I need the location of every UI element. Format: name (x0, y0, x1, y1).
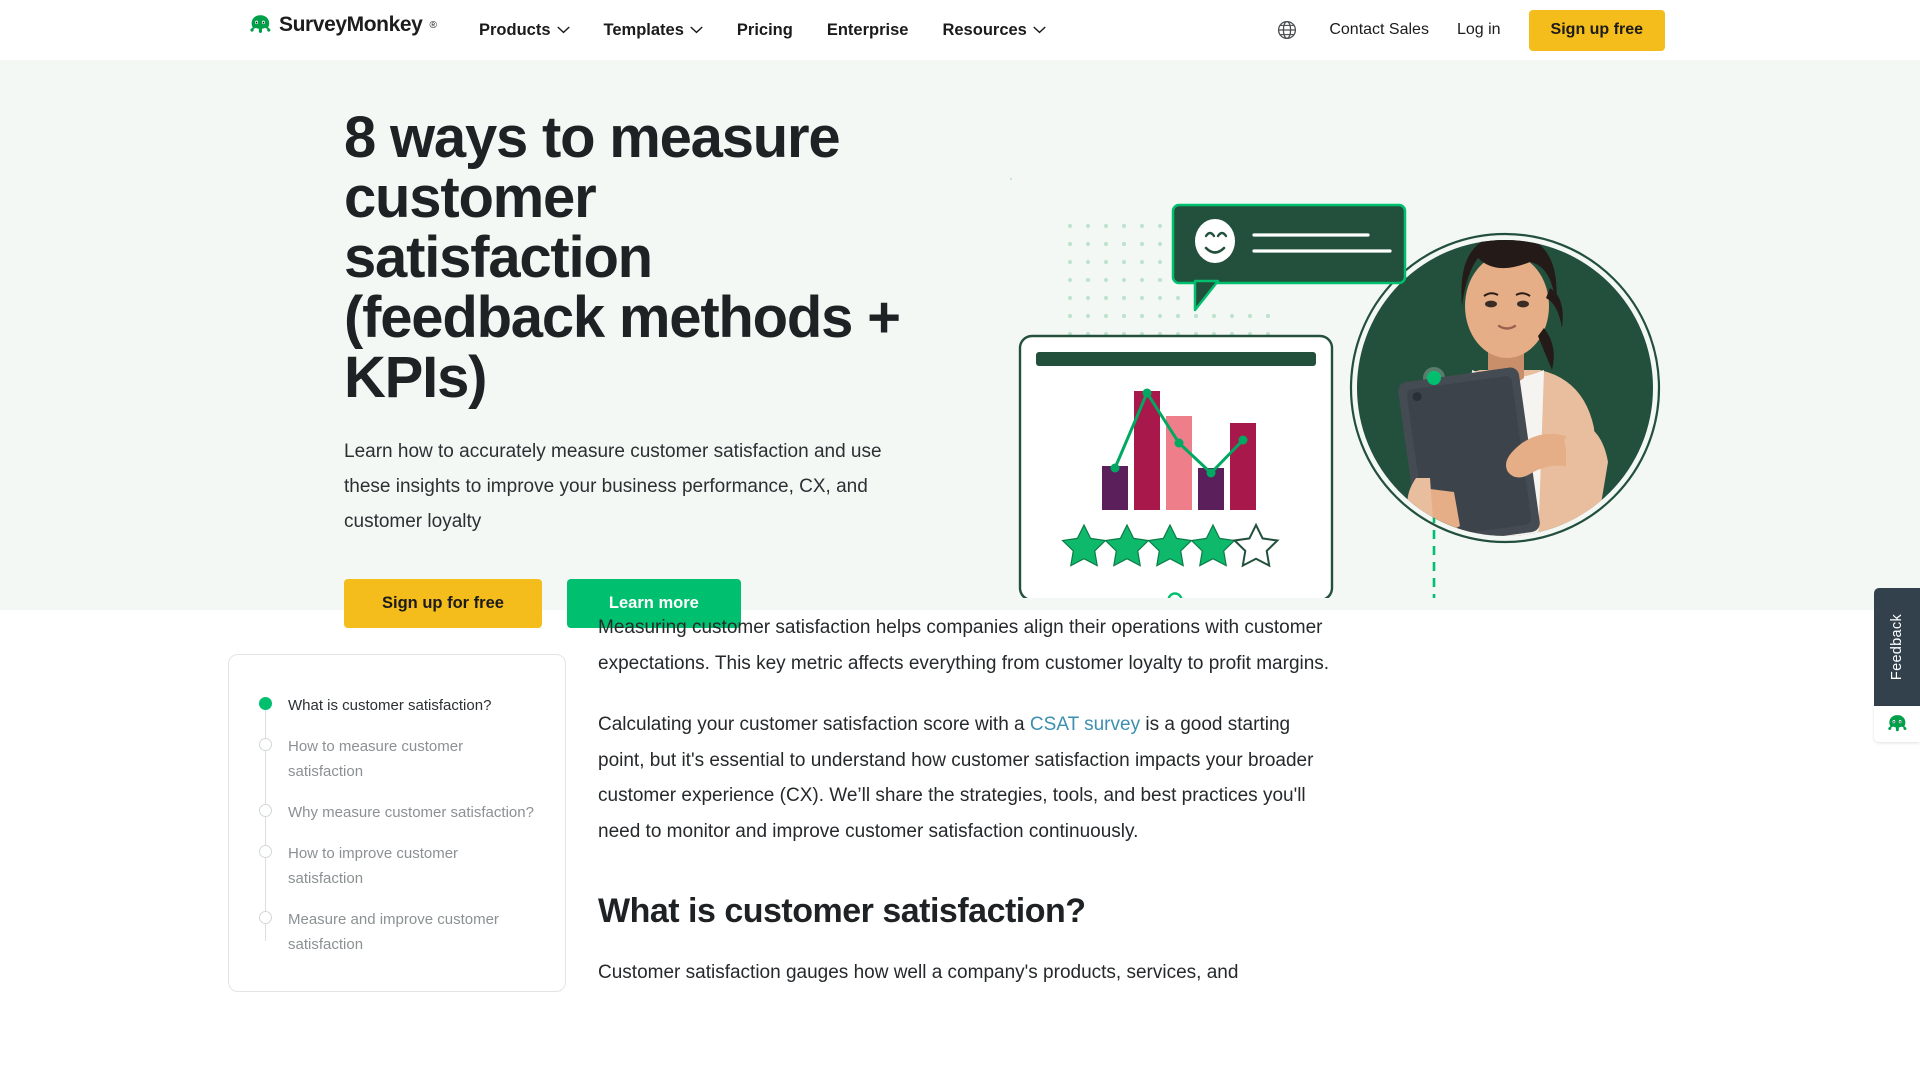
table-of-contents: What is customer satisfaction? How to me… (228, 654, 566, 992)
toc-dot-icon (259, 738, 272, 751)
smiley-face-icon (1195, 219, 1235, 263)
site-header: SurveyMonkey ® Products Templates Pricin… (0, 0, 1920, 60)
toc-item-label: Why measure customer satisfaction? (288, 800, 534, 825)
toc-item-label: How to measure customer satisfaction (288, 734, 535, 784)
toc-item-measure-and-improve[interactable]: Measure and improve customer satisfactio… (259, 907, 535, 957)
toc-list: What is customer satisfaction? How to me… (259, 693, 535, 957)
chevron-down-icon (690, 26, 703, 34)
chevron-down-icon (1033, 26, 1046, 34)
toc-dot-icon (259, 911, 272, 924)
csat-survey-link[interactable]: CSAT survey (1030, 714, 1140, 735)
feedback-speech-bubble (1173, 205, 1405, 310)
article-body: Measuring customer satisfaction helps co… (598, 610, 1338, 1017)
main-navigation: Products Templates Pricing Enterprise Re… (462, 0, 1063, 60)
nav-item-pricing[interactable]: Pricing (720, 21, 810, 40)
logo-text: SurveyMonkey (279, 13, 422, 37)
hero-section: 8 ways to measure customer satisfaction … (0, 60, 1920, 610)
logo-registered-mark: ® (429, 20, 436, 31)
surveymonkey-logo-icon (247, 14, 273, 36)
nav-label-templates: Templates (604, 21, 684, 40)
nav-item-resources[interactable]: Resources (925, 21, 1062, 40)
section-heading-what-is-customer-satisfaction: What is customer satisfaction? (598, 889, 1338, 933)
dashboard-titlebar (1036, 352, 1316, 366)
analytics-dashboard-card (1020, 336, 1332, 598)
nav-label-pricing: Pricing (737, 21, 793, 40)
toc-item-label: What is customer satisfaction? (288, 693, 491, 718)
nav-item-enterprise[interactable]: Enterprise (810, 21, 926, 40)
toc-item-why-measure[interactable]: Why measure customer satisfaction? (259, 800, 535, 825)
toc-item-how-to-measure[interactable]: How to measure customer satisfaction (259, 734, 535, 784)
page-title: 8 ways to measure customer satisfaction … (344, 108, 914, 408)
log-in-link[interactable]: Log in (1443, 21, 1515, 39)
toc-dot-icon (259, 804, 272, 817)
page-root: SurveyMonkey ® Products Templates Pricin… (0, 0, 1920, 1080)
sign-up-for-free-button[interactable]: Sign up for free (344, 579, 542, 628)
feedback-tab-button[interactable]: Feedback (1874, 588, 1920, 706)
sign-up-free-button[interactable]: Sign up free (1529, 10, 1665, 51)
customer-satisfaction-illustration-svg (1010, 178, 1690, 598)
surveymonkey-monkey-icon (1885, 714, 1909, 734)
nav-label-enterprise: Enterprise (827, 21, 909, 40)
toc-item-label: Measure and improve customer satisfactio… (288, 907, 535, 957)
globe-icon[interactable] (1277, 20, 1297, 40)
contact-sales-link[interactable]: Contact Sales (1315, 21, 1443, 39)
toc-item-how-to-improve[interactable]: How to improve customer satisfaction (259, 841, 535, 891)
article-paragraph-2: Calculating your customer satisfaction s… (598, 707, 1338, 849)
bar-1 (1102, 466, 1128, 510)
toc-item-label: How to improve customer satisfaction (288, 841, 535, 891)
surveymonkey-logo[interactable]: SurveyMonkey ® (247, 13, 437, 37)
nav-item-templates[interactable]: Templates (587, 21, 720, 40)
nav-label-resources: Resources (942, 21, 1026, 40)
paragraph-2-text-before-link: Calculating your customer satisfaction s… (598, 714, 1030, 735)
hero-illustration (1010, 178, 1690, 598)
feedback-tab-label: Feedback (1889, 614, 1905, 680)
toc-item-what-is-customer-satisfaction[interactable]: What is customer satisfaction? (259, 693, 535, 718)
hero-text-block: 8 ways to measure customer satisfaction … (344, 108, 944, 628)
chevron-down-icon (557, 26, 570, 34)
toc-dot-icon (259, 845, 272, 858)
article-paragraph-3: Customer satisfaction gauges how well a … (598, 955, 1338, 991)
nav-label-products: Products (479, 21, 551, 40)
header-utility-nav: Contact Sales Log in Sign up free (1277, 0, 1665, 60)
toc-dot-icon (259, 697, 272, 710)
nav-item-products[interactable]: Products (462, 21, 587, 40)
article-paragraph-1: Measuring customer satisfaction helps co… (598, 610, 1338, 681)
hero-subtitle: Learn how to accurately measure customer… (344, 434, 924, 539)
feedback-logo-badge[interactable] (1874, 706, 1920, 742)
